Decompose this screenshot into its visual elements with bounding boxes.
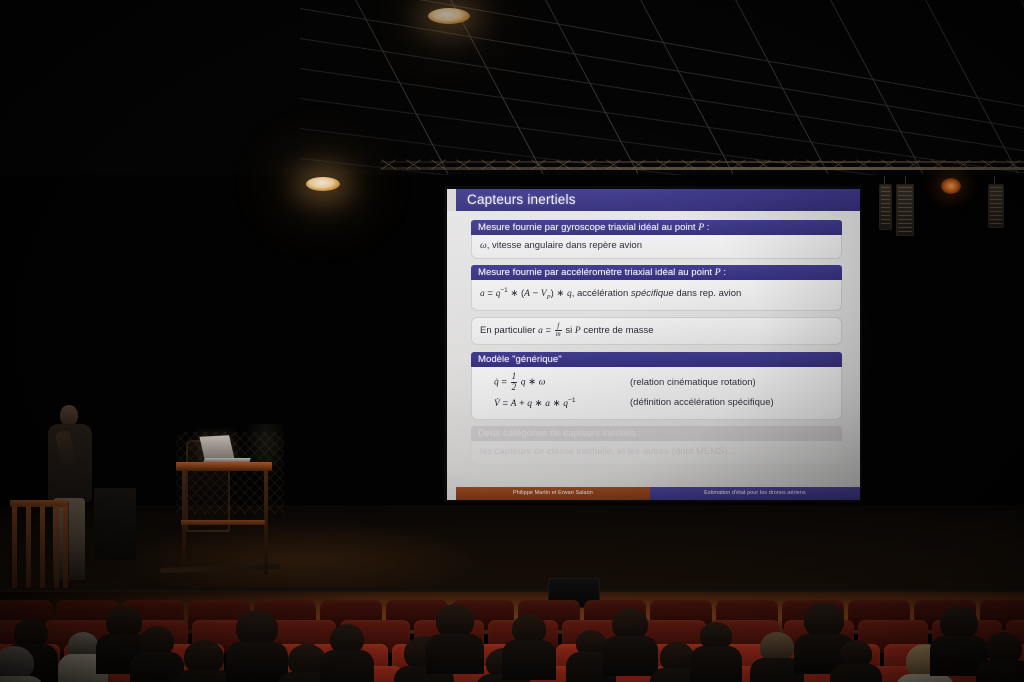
audience-head <box>436 604 474 638</box>
slide-title: Capteurs inertiels <box>456 189 860 211</box>
audience-shoulders <box>976 660 1024 682</box>
table-shelf <box>181 520 265 525</box>
slide-footer: Philippe Martin et Erwan Salaün Estimati… <box>456 487 860 500</box>
audience-head <box>184 640 224 674</box>
audience-shoulders <box>226 642 288 682</box>
stage-lighting-truss <box>380 160 1024 176</box>
truss-brace <box>855 158 871 172</box>
truss-brace <box>830 158 846 172</box>
audience-shoulders <box>174 670 234 682</box>
ceiling-grid-line <box>815 0 924 174</box>
truss-brace <box>880 158 896 172</box>
audience-head <box>940 606 978 640</box>
truss-brace <box>930 158 946 172</box>
presenter-head <box>60 405 78 426</box>
footer-talk-title: Estimation d'état pour les drones aérien… <box>650 487 860 500</box>
block-gyroscope: Mesure fournie par gyroscope triaxial id… <box>471 220 842 259</box>
block-gyroscope-header: Mesure fournie par gyroscope triaxial id… <box>471 220 842 235</box>
truss-brace <box>555 158 571 172</box>
audience-head <box>236 610 278 646</box>
equation-row: V̇ = A + q ∗ a ∗ q−1 (définition accélér… <box>480 392 833 413</box>
audience-shoulders <box>426 634 484 674</box>
table-top <box>176 462 272 471</box>
stage-light-fixture <box>879 184 892 230</box>
stage-light-fixture <box>988 184 1004 228</box>
ceiling-grid-line <box>300 8 1024 149</box>
presenter-table-with-laptop <box>176 462 272 580</box>
truss-brace <box>530 158 546 172</box>
audience-head <box>0 646 34 680</box>
truss-brace <box>905 158 921 172</box>
truss-brace <box>730 158 746 172</box>
block-accelerometer-body: a = q−1 ∗ (A − VP) ∗ q, accélération spé… <box>471 280 842 311</box>
truss-brace <box>505 158 521 172</box>
truss-brace <box>580 158 596 172</box>
block-modele-body: q̇ = 12 q ∗ ω (relation cinématique rota… <box>471 367 842 420</box>
audience-shoulders <box>502 640 556 680</box>
truss-brace <box>705 158 721 172</box>
ceiling <box>0 0 1024 175</box>
ceiling-grid-line <box>300 38 1024 167</box>
stage-railing <box>10 500 68 592</box>
block-accelerometer-header: Mesure fournie par accéléromètre triaxia… <box>471 265 842 280</box>
truss-brace <box>430 158 446 172</box>
stage-light-fixture <box>896 184 914 236</box>
audience-head <box>804 602 844 638</box>
block-faded-upcoming: Deux catégories de capteurs inertiels : … <box>471 426 842 465</box>
block-gyroscope-body: ω, vitesse angulaire dans repère avion <box>471 235 842 259</box>
block-modele-generique: Modèle "générique" q̇ = 12 q ∗ ω (relati… <box>471 352 842 420</box>
slide-body: Mesure fournie par gyroscope triaxial id… <box>447 211 860 500</box>
equation-caption: (relation cinématique rotation) <box>630 374 756 391</box>
ceiling-light <box>306 177 340 191</box>
ceiling-grid-line <box>435 0 544 174</box>
equation-caption: (définition accélération spécifique) <box>630 394 774 411</box>
seated-audience <box>0 596 1024 682</box>
audience-shoulders <box>830 664 882 682</box>
truss-brace <box>480 158 496 172</box>
equation-row: q̇ = 12 q ∗ ω (relation cinématique rota… <box>480 372 833 392</box>
truss-brace <box>780 158 796 172</box>
note-centre-de-masse: En particulier a = fm si P centre de mas… <box>471 317 842 345</box>
faded-header: Deux catégories de capteurs inertiels : <box>471 426 842 441</box>
truss-brace <box>605 158 621 172</box>
truss-brace <box>980 158 996 172</box>
truss-brace <box>630 158 646 172</box>
audience-shoulders <box>690 646 742 682</box>
truss-brace <box>1005 158 1021 172</box>
footer-authors: Philippe Martin et Erwan Salaün <box>456 487 650 500</box>
truss-brace <box>455 158 471 172</box>
audience-shoulders <box>602 636 658 676</box>
laptop-screen <box>199 435 234 461</box>
ceiling-light-panel <box>428 8 470 24</box>
block-accelerometer: Mesure fournie par accéléromètre triaxia… <box>471 265 842 311</box>
projected-slide: Capteurs inertiels Mesure fournie par gy… <box>447 189 860 500</box>
truss-brace <box>380 158 396 172</box>
truss-brace <box>955 158 971 172</box>
truss-brace <box>655 158 671 172</box>
truss-brace <box>405 158 421 172</box>
block-modele-header: Modèle "générique" <box>471 352 842 367</box>
truss-brace <box>805 158 821 172</box>
auditorium-scene: Capteurs inertiels Mesure fournie par gy… <box>0 0 1024 682</box>
ceiling-grid <box>300 0 1024 175</box>
audience-shoulders <box>320 650 374 682</box>
truss-brace <box>755 158 771 172</box>
truss-brace <box>680 158 696 172</box>
stage-lamp-glow <box>941 178 961 194</box>
faded-body: les capteurs de classe inertielle, et le… <box>471 441 842 465</box>
